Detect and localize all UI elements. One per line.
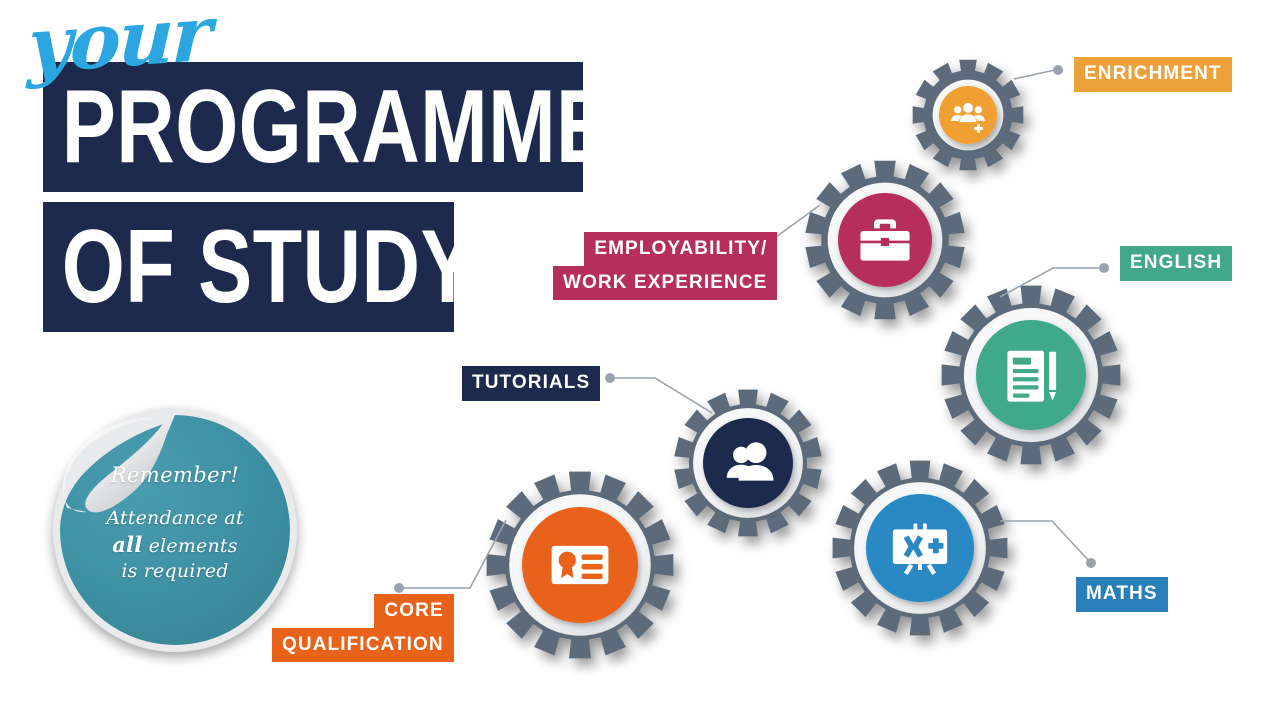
gear-english[interactable]: [942, 286, 1121, 465]
gear-center-disc: [703, 418, 793, 508]
label-core-line2: QUALIFICATION: [272, 628, 454, 662]
label-employability-line1: EMPLOYABILITY/: [584, 232, 777, 266]
remember-sticker: Remember! Attendance at all elements is …: [53, 408, 301, 656]
gear-core[interactable]: [487, 472, 674, 659]
label-tutorials[interactable]: TUTORIALS: [462, 366, 600, 401]
sticker-body-part2: elements: [149, 535, 238, 557]
gear-employability[interactable]: [805, 161, 964, 320]
sticker-body: Attendance at all elements is required: [73, 506, 277, 584]
sticker-body-part1: Attendance at: [106, 507, 243, 529]
sticker-heading: Remember!: [73, 462, 277, 490]
gear-center-disc: [838, 193, 932, 287]
label-maths[interactable]: MATHS: [1076, 577, 1168, 612]
label-employability[interactable]: EMPLOYABILITY/ WORK EXPERIENCE: [553, 232, 777, 300]
label-employability-line2: WORK EXPERIENCE: [553, 266, 777, 300]
label-english[interactable]: ENGLISH: [1120, 246, 1232, 281]
title-text-programme: PROGRAMME: [43, 75, 611, 179]
label-core-line1: CORE: [374, 594, 453, 628]
sticker-text: Remember! Attendance at all elements is …: [73, 462, 277, 584]
label-enrichment[interactable]: ENRICHMENT: [1074, 57, 1232, 92]
title-text-of-study: OF STUDY: [43, 215, 475, 319]
sticker-body-line3: is required: [121, 560, 228, 582]
gear-tutorials[interactable]: [674, 390, 821, 537]
certificate-icon: [552, 546, 609, 584]
title-script-your: your: [27, 0, 211, 85]
page-title: PROGRAMME OF STUDY your: [0, 0, 620, 360]
infographic-canvas: PROGRAMME OF STUDY your Remember! Attend…: [0, 0, 1280, 720]
sticker-body-emphasis: all: [112, 532, 142, 557]
title-line-of-study: OF STUDY: [43, 202, 454, 332]
gear-enrichment[interactable]: [913, 60, 1024, 171]
label-core-qualification[interactable]: CORE QUALIFICATION: [272, 594, 454, 662]
gear-maths[interactable]: [833, 461, 1008, 636]
